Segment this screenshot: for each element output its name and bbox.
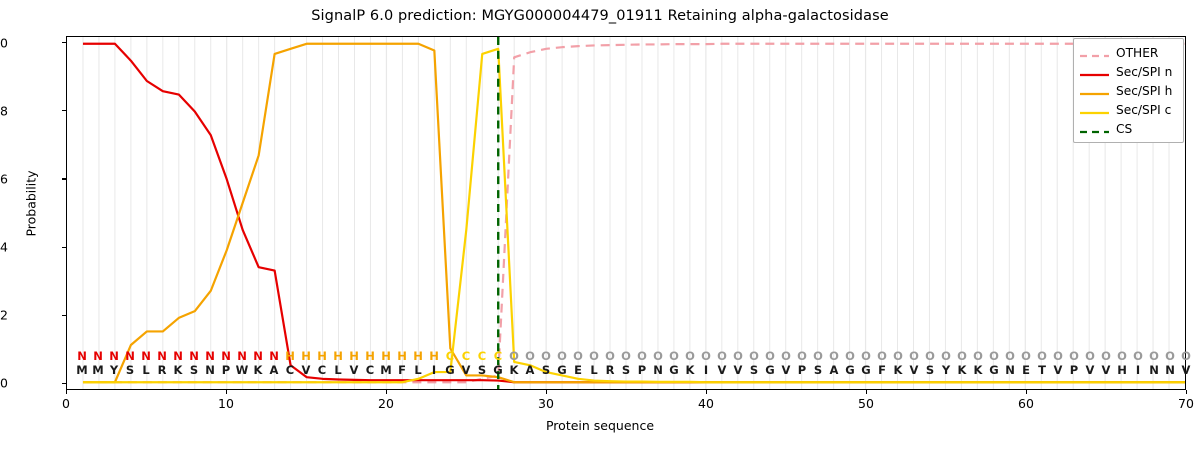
legend-swatch-icon	[1079, 104, 1110, 116]
legend-swatch-icon	[1079, 47, 1110, 59]
y-tick-label: 0.8	[0, 103, 8, 118]
x-tick-label: 10	[218, 396, 234, 411]
plot-area	[66, 36, 1186, 390]
legend-swatch-icon	[1079, 123, 1110, 135]
y-tick-label: 0.2	[0, 308, 8, 323]
x-tick-label: 30	[538, 396, 554, 411]
plot-svg	[67, 37, 1185, 389]
series-line-sec-spi-c	[83, 49, 1185, 382]
legend-label: Sec/SPI n	[1116, 65, 1172, 79]
y-tick-label: 0.4	[0, 240, 8, 255]
x-tick-mark	[1186, 390, 1187, 394]
y-tick-label: 0.0	[0, 376, 8, 391]
x-axis-label: Protein sequence	[0, 418, 1200, 433]
y-axis-label: Probability	[24, 144, 39, 264]
x-tick-mark	[386, 390, 387, 394]
page-title: SignalP 6.0 prediction: MGYG000004479_01…	[0, 8, 1200, 24]
legend-item-cs[interactable]: CS	[1079, 119, 1178, 138]
legend-item-sec-spi-n[interactable]: Sec/SPI n	[1079, 62, 1178, 81]
legend-label: CS	[1116, 122, 1132, 136]
legend: OTHERSec/SPI nSec/SPI hSec/SPI cCS	[1073, 38, 1184, 143]
legend-item-sec-spi-h[interactable]: Sec/SPI h	[1079, 81, 1178, 100]
series-line-sec-spi-h	[83, 44, 1185, 382]
x-tick-mark	[1026, 390, 1027, 394]
x-tick-label: 0	[62, 396, 70, 411]
x-tick-mark	[706, 390, 707, 394]
legend-label: OTHER	[1116, 46, 1158, 60]
x-tick-mark	[226, 390, 227, 394]
x-tick-label: 50	[858, 396, 874, 411]
series-line-sec-spi-n	[83, 44, 1185, 382]
legend-swatch-icon	[1079, 66, 1110, 78]
x-tick-label: 60	[1018, 396, 1034, 411]
x-tick-label: 70	[1178, 396, 1194, 411]
legend-label: Sec/SPI c	[1116, 103, 1171, 117]
legend-label: Sec/SPI h	[1116, 84, 1172, 98]
y-tick-label: 0.6	[0, 171, 8, 186]
x-tick-label: 20	[378, 396, 394, 411]
legend-item-other[interactable]: OTHER	[1079, 43, 1178, 62]
legend-swatch-icon	[1079, 85, 1110, 97]
series-line-other	[83, 44, 1185, 382]
x-tick-mark	[866, 390, 867, 394]
x-tick-mark	[546, 390, 547, 394]
x-tick-mark	[66, 390, 67, 394]
signalp-prediction-figure: SignalP 6.0 prediction: MGYG000004479_01…	[0, 0, 1200, 450]
y-tick-label: 1.0	[0, 35, 8, 50]
x-tick-label: 40	[698, 396, 714, 411]
legend-item-sec-spi-c[interactable]: Sec/SPI c	[1079, 100, 1178, 119]
